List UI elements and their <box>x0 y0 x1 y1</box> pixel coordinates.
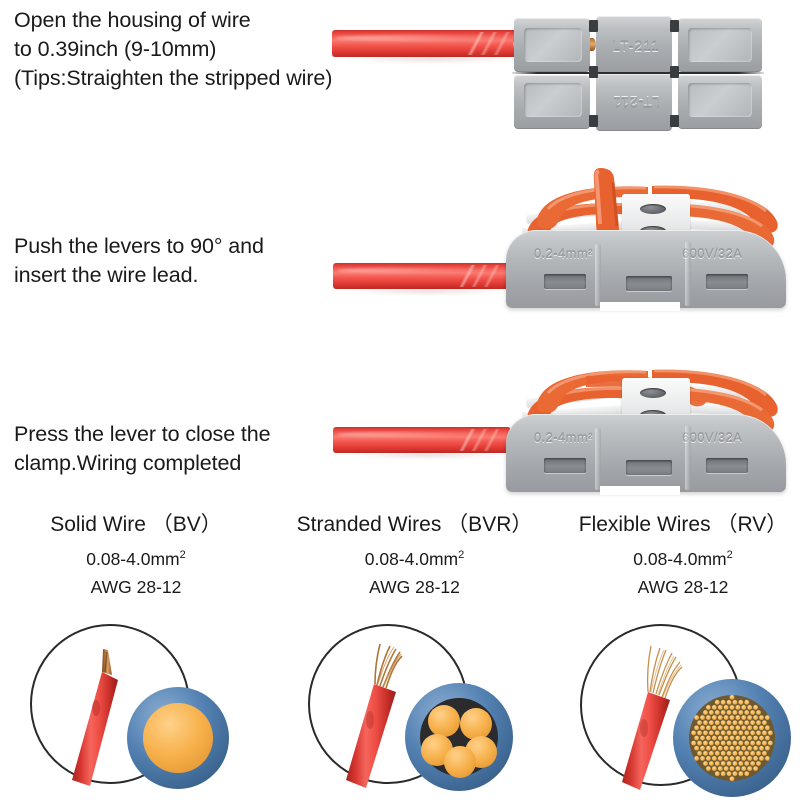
wire-diagram-flexible <box>576 620 800 795</box>
housing-bottom-right-recess <box>688 83 752 117</box>
cross-section-solid <box>126 686 230 790</box>
wire-shadow <box>344 451 510 458</box>
housing-clip <box>670 66 679 78</box>
wire-shadow <box>343 55 522 62</box>
wire-type-area: 0.08-4.0mm2 <box>566 542 800 572</box>
wire-entry-slot <box>626 460 672 475</box>
housing-top-right-recess <box>688 28 752 62</box>
wire-entry-slot <box>544 458 586 473</box>
connector-lever-closed: 0.2-4mm² 600V/32A <box>500 352 790 497</box>
rating-area-label: 0.2-4mm² <box>534 430 593 445</box>
rating-voltage-label: 600V/32A <box>682 246 742 261</box>
test-port-hole <box>640 204 666 214</box>
housing-clip <box>670 115 679 127</box>
connector-body <box>506 230 786 308</box>
connector-body <box>506 414 786 492</box>
wire-type-awg: AWG 28-12 <box>272 574 557 600</box>
wire-type-area: 0.08-4.0mm2 <box>272 542 557 572</box>
body-rib <box>685 426 691 490</box>
wire-type-area-value: 0.08-4.0mm <box>365 549 458 569</box>
cross-section-stranded <box>404 682 514 792</box>
housing-bottom-left-recess <box>524 83 582 117</box>
cross-section-flexible <box>672 678 792 798</box>
connector-lever-open: 0.2-4mm² 600V/32A <box>500 168 790 313</box>
cross-section-shape <box>126 686 230 790</box>
body-foot-notch <box>600 302 680 311</box>
wire-type-title: Solid Wire （BV） <box>6 512 266 538</box>
connector-lt211: LT-211 LT-211 <box>512 16 764 134</box>
solid-wire-cable <box>66 648 118 780</box>
wire-entry-slot <box>706 274 748 289</box>
wire-type-title: Stranded Wires （BVR） <box>272 512 557 538</box>
cross-section-shape <box>672 678 792 798</box>
connector-model-label: LT-211 <box>608 38 664 54</box>
wire-diagram-solid <box>26 620 256 795</box>
wire-type-awg: AWG 28-12 <box>566 574 800 600</box>
step-2-text: Push the levers to 90° and insert the wi… <box>14 232 344 290</box>
wire-type-area-value: 0.08-4.0mm <box>86 549 179 569</box>
instruction-sheet: Open the housing of wire to 0.39inch (9-… <box>0 0 800 800</box>
wire-type-awg: AWG 28-12 <box>6 574 266 600</box>
housing-clip <box>589 66 598 78</box>
wire-entry-slot <box>544 274 586 289</box>
cross-section-shape <box>404 682 514 792</box>
wire-type-stranded: Stranded Wires （BVR） 0.08-4.0mm2 AWG 28-… <box>272 512 557 600</box>
housing-top-left-recess <box>524 28 582 62</box>
wire-type-area-unit-sup: 2 <box>458 549 464 561</box>
body-foot-notch <box>600 486 680 495</box>
step-3-text: Press the lever to close the clamp.Wirin… <box>14 420 344 478</box>
wire-diagram-stranded <box>304 620 534 795</box>
test-port-hole <box>640 388 666 398</box>
wire-type-area-unit-sup: 2 <box>180 549 186 561</box>
wire-shadow <box>344 287 510 294</box>
housing-clip <box>589 20 598 32</box>
body-rib <box>595 428 601 490</box>
wire-scuff <box>450 32 515 55</box>
wire-type-area-unit-sup: 2 <box>727 549 733 561</box>
wire-type-title: Flexible Wires （RV） <box>566 512 800 538</box>
wire-scuff <box>443 265 503 287</box>
wire-scuff <box>443 429 503 451</box>
wire-entry-slot <box>626 276 672 291</box>
body-rib <box>685 242 691 306</box>
rating-area-label: 0.2-4mm² <box>534 246 593 261</box>
body-rib <box>595 244 601 306</box>
wire-row-3 <box>333 427 510 453</box>
rating-voltage-label: 600V/32A <box>682 430 742 445</box>
wire-row-1 <box>332 30 522 57</box>
wire-entry-slot <box>706 458 748 473</box>
wire-type-flexible: Flexible Wires （RV） 0.08-4.0mm2 AWG 28-1… <box>566 512 800 600</box>
wire-type-solid: Solid Wire （BV） 0.08-4.0mm2 AWG 28-12 <box>6 512 266 600</box>
housing-clip <box>670 20 679 32</box>
wire-row-2 <box>333 263 510 289</box>
wire-type-area-value: 0.08-4.0mm <box>633 549 726 569</box>
wire-type-area: 0.08-4.0mm2 <box>6 542 266 572</box>
housing-clip <box>589 115 598 127</box>
connector-model-label-mirrored: LT-211 <box>608 94 664 110</box>
